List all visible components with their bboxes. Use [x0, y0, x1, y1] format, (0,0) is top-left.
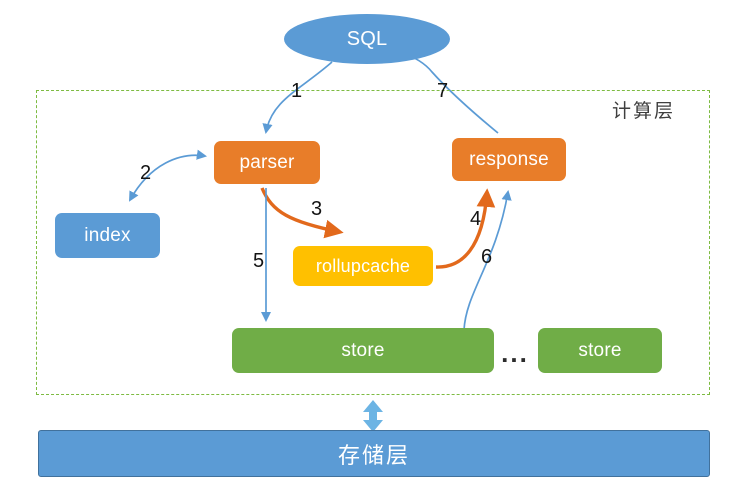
- diagram-canvas: 计算层: [0, 0, 752, 504]
- edge-label-5: 5: [253, 250, 264, 273]
- edge-label-7: 7: [437, 80, 448, 103]
- node-index[interactable]: index: [55, 213, 160, 258]
- edge-label-6: 6: [481, 246, 492, 269]
- edge-label-3: 3: [311, 198, 322, 221]
- double-arrow-vertical-icon: [363, 400, 383, 432]
- node-sql[interactable]: SQL: [284, 14, 450, 64]
- edge-label-2: 2: [140, 162, 151, 185]
- edge-label-1: 1: [291, 80, 302, 103]
- node-response[interactable]: response: [452, 138, 566, 181]
- node-parser[interactable]: parser: [214, 141, 320, 184]
- node-store-1[interactable]: store: [232, 328, 494, 373]
- compute-layer-label: 计算层: [612, 96, 675, 123]
- node-store-2[interactable]: store: [538, 328, 662, 373]
- store-ellipsis: ...: [496, 338, 534, 369]
- edge-label-4: 4: [470, 208, 481, 231]
- node-rollupcache[interactable]: rollupcache: [293, 246, 433, 286]
- node-storage-layer[interactable]: 存储层: [38, 430, 710, 477]
